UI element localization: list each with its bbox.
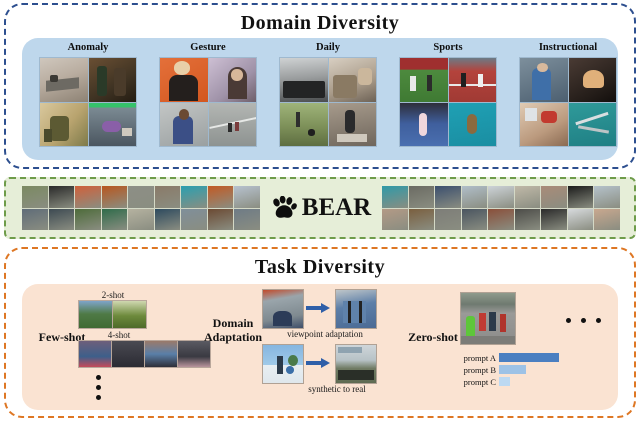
mosaic-tile — [515, 186, 541, 208]
mosaic-tile — [128, 186, 154, 208]
domain-image-grid — [519, 57, 617, 147]
domain-tile — [40, 103, 88, 147]
domain-column-sports: Sports — [392, 42, 504, 147]
few-shot-tile — [145, 341, 177, 367]
synthetic-target-image — [335, 344, 377, 384]
paw-print-icon — [271, 196, 297, 220]
domain-tile — [520, 58, 568, 102]
mosaic-tile — [488, 209, 514, 231]
prompt-row: prompt B — [452, 364, 572, 375]
mosaic-tile — [49, 209, 75, 231]
mosaic-tile — [409, 186, 435, 208]
domain-tile — [520, 103, 568, 147]
bear-logo: BEAR — [262, 192, 380, 224]
mosaic-tile — [594, 186, 620, 208]
mosaic-tile — [409, 209, 435, 231]
mosaic-tile — [488, 186, 514, 208]
few-shot-tile — [178, 341, 210, 367]
task-diversity-title: Task Diversity — [0, 256, 640, 279]
four-shot-caption: 4-shot — [84, 330, 154, 340]
domain-tile — [569, 58, 617, 102]
viewpoint-adaptation-caption: viewpoint adaptation — [270, 329, 380, 339]
mosaic-tile — [49, 186, 75, 208]
domain-column-instructional: Instructional — [512, 42, 624, 147]
two-shot-caption: 2-shot — [78, 290, 148, 300]
prompt-bar — [499, 365, 526, 374]
domain-column-anomaly: Anomaly — [32, 42, 144, 147]
prompt-name: prompt A — [452, 353, 499, 363]
mosaic-tile — [541, 209, 567, 231]
mosaic-tile — [22, 209, 48, 231]
synthetic-source-image — [262, 344, 304, 384]
domain-diversity-title: Domain Diversity — [0, 12, 640, 35]
figure-canvas: Domain Diversity Anomaly Gesture — [0, 0, 640, 421]
few-shot-tile — [79, 301, 112, 328]
domain-image-grid — [279, 57, 377, 147]
mosaic-tile — [75, 186, 101, 208]
domain-tile — [280, 58, 328, 102]
mosaic-tile — [568, 186, 594, 208]
domain-tile — [209, 103, 257, 147]
synthetic-arrow-icon — [306, 357, 330, 369]
domain-image-grid — [39, 57, 137, 147]
mosaic-tile — [155, 209, 181, 231]
mosaic-tile — [208, 209, 234, 231]
prompt-row: prompt C — [452, 376, 572, 387]
zero-shot-prompt-chart: prompt A prompt B prompt C — [452, 352, 572, 388]
bear-mosaic-right — [382, 186, 620, 230]
prompt-row: prompt A — [452, 352, 572, 363]
domain-tile — [449, 58, 497, 102]
domain-adaptation-label-line1: Domain — [213, 316, 254, 330]
domain-image-grid — [159, 57, 257, 147]
domain-tile — [400, 58, 448, 102]
mosaic-tile — [75, 209, 101, 231]
domain-tile — [329, 58, 377, 102]
domain-tile — [40, 58, 88, 102]
few-shot-ellipsis — [96, 375, 101, 400]
prompt-bar — [499, 377, 510, 386]
mosaic-tile — [462, 186, 488, 208]
mosaic-tile — [435, 186, 461, 208]
zero-shot-label: Zero-shot — [396, 330, 470, 344]
zero-shot-image — [460, 292, 516, 345]
domain-tile — [400, 103, 448, 147]
viewpoint-arrow-icon — [306, 302, 330, 314]
domain-column-label: Instructional — [512, 42, 624, 54]
prompt-bar — [499, 353, 559, 362]
mosaic-tile — [181, 186, 207, 208]
domain-tile — [569, 103, 617, 147]
viewpoint-target-image — [335, 289, 377, 329]
mosaic-tile — [181, 209, 207, 231]
domain-tile — [89, 103, 137, 147]
few-shot-tile — [112, 341, 144, 367]
mosaic-tile — [208, 186, 234, 208]
domain-column-label: Sports — [392, 42, 504, 54]
prompt-name: prompt B — [452, 365, 499, 375]
domain-column-gesture: Gesture — [152, 42, 264, 147]
mosaic-tile — [462, 209, 488, 231]
mosaic-tile — [155, 186, 181, 208]
mosaic-tile — [234, 186, 260, 208]
four-shot-strip — [78, 340, 211, 368]
mosaic-tile — [234, 209, 260, 231]
domain-column-label: Daily — [272, 42, 384, 54]
domain-tile — [449, 103, 497, 147]
mosaic-tile — [22, 186, 48, 208]
domain-tile — [89, 58, 137, 102]
mosaic-tile — [568, 209, 594, 231]
bear-mosaic-left — [22, 186, 260, 230]
synthetic-to-real-caption: synthetic to real — [282, 384, 392, 394]
few-shot-tile — [79, 341, 111, 367]
mosaic-tile — [102, 186, 128, 208]
domain-column-daily: Daily — [272, 42, 384, 147]
mosaic-tile — [515, 209, 541, 231]
domain-image-grid — [399, 57, 497, 147]
mosaic-tile — [594, 209, 620, 231]
mosaic-tile — [382, 186, 408, 208]
bear-wordmark: BEAR — [302, 194, 371, 222]
domain-tile — [160, 58, 208, 102]
domain-tile — [280, 103, 328, 147]
domain-tile — [209, 58, 257, 102]
domain-column-label: Gesture — [152, 42, 264, 54]
task-ellipsis — [566, 318, 601, 323]
mosaic-tile — [541, 186, 567, 208]
domain-adaptation-label-line2: Adaptation — [204, 330, 262, 344]
domain-tile — [160, 103, 208, 147]
domain-column-label: Anomaly — [32, 42, 144, 54]
mosaic-tile — [128, 209, 154, 231]
mosaic-tile — [435, 209, 461, 231]
mosaic-tile — [382, 209, 408, 231]
domain-tile — [329, 103, 377, 147]
prompt-name: prompt C — [452, 377, 499, 387]
mosaic-tile — [102, 209, 128, 231]
viewpoint-source-image — [262, 289, 304, 329]
two-shot-strip — [78, 300, 147, 329]
few-shot-tile — [113, 301, 146, 328]
